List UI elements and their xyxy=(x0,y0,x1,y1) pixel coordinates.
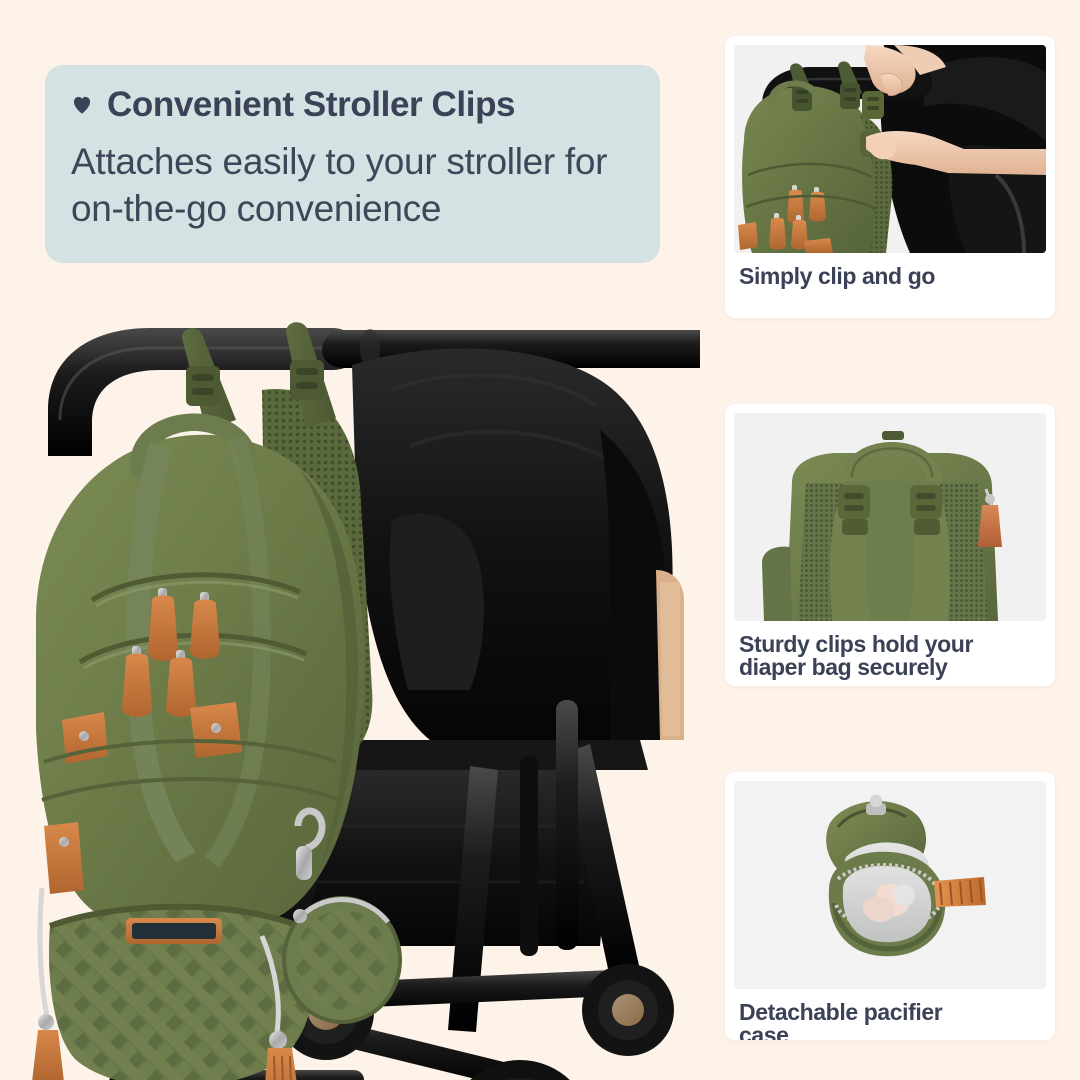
backpack-back-panel-clips-photo xyxy=(734,413,1046,621)
headline-callout: Convenient Stroller Clips Attaches easil… xyxy=(45,65,660,263)
headline-row: Convenient Stroller Clips xyxy=(71,87,634,122)
infographic-page: Convenient Stroller Clips Attaches easil… xyxy=(0,0,1080,1080)
card-caption: Sturdy clips hold your diaper bag secure… xyxy=(725,621,1055,678)
headline-subtitle: Attaches easily to your stroller for on-… xyxy=(71,138,634,233)
detachable-pacifier-case-photo xyxy=(734,781,1046,989)
feature-card-3: Detachable pacifier case xyxy=(725,772,1055,1040)
feature-card-1: Simply clip and go xyxy=(725,36,1055,318)
card-caption: Simply clip and go xyxy=(725,253,1055,288)
hands-clipping-backpack-to-stroller-photo xyxy=(734,45,1046,253)
headline-title: Convenient Stroller Clips xyxy=(107,87,515,122)
hero-image xyxy=(0,270,700,1080)
heart-icon xyxy=(71,94,93,116)
feature-card-2: Sturdy clips hold your diaper bag secure… xyxy=(725,404,1055,686)
card-caption: Detachable pacifier case xyxy=(725,989,1055,1040)
